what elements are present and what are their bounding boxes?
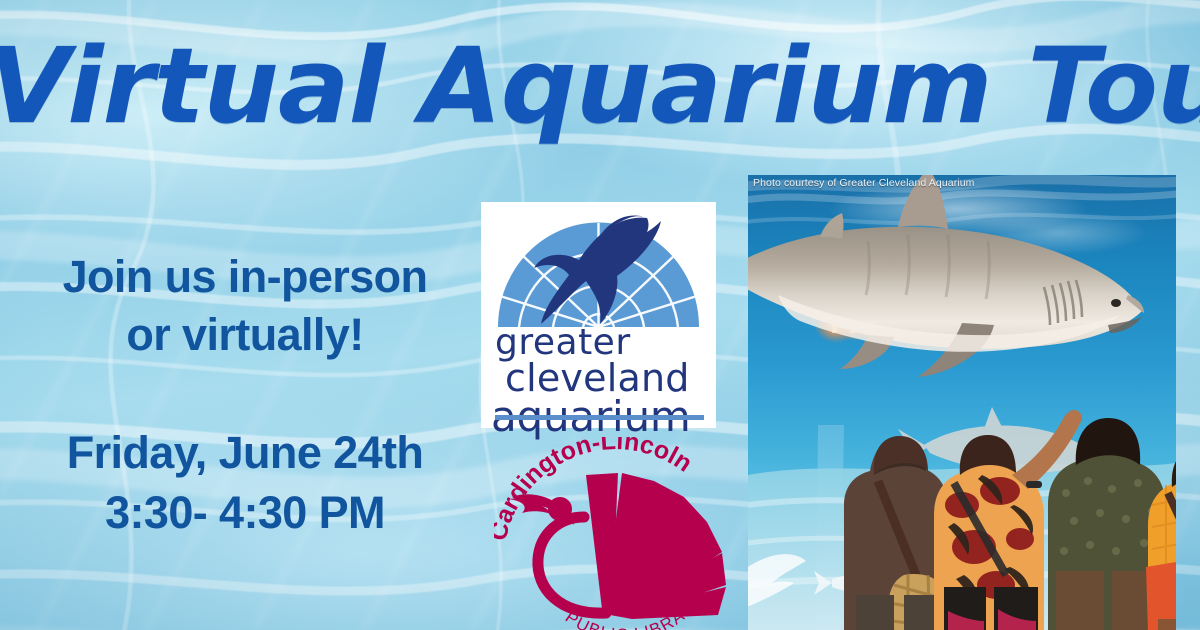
aquarium-wordmark: greater cleveland aquarium [491, 326, 706, 437]
page-title: Virtual Aquarium Tour [0, 34, 1200, 138]
cardington-lincoln-public-library-logo: Cardington-Lincoln PUBLIC LIBRARY [494, 437, 734, 630]
shark-over-dome-icon [497, 212, 700, 328]
tagline-line-1: Join us in-person [10, 248, 480, 306]
tagline-line-2: or virtually! [10, 306, 480, 364]
poster-canvas: Virtual Aquarium Tour Join us in-person … [0, 0, 1200, 630]
aquarium-underline [495, 415, 704, 420]
event-datetime: Friday, June 24th 3:30- 4:30 PM [10, 423, 480, 543]
tagline: Join us in-person or virtually! [10, 248, 480, 363]
event-date: Friday, June 24th [10, 423, 480, 483]
event-details: Join us in-person or virtually! Friday, … [10, 248, 480, 543]
aquarium-shark-tank-photo: Photo courtesy of Greater Cleveland Aqua… [748, 175, 1176, 630]
aquarium-word-greater: greater [491, 326, 706, 359]
photo-caption: Photo courtesy of Greater Cleveland Aqua… [753, 177, 975, 189]
aquarium-word-cleveland: cleveland [491, 361, 706, 396]
event-time: 3:30- 4:30 PM [10, 483, 480, 543]
greater-cleveland-aquarium-logo: greater cleveland aquarium [481, 202, 716, 428]
book-fan-shape [586, 473, 726, 619]
